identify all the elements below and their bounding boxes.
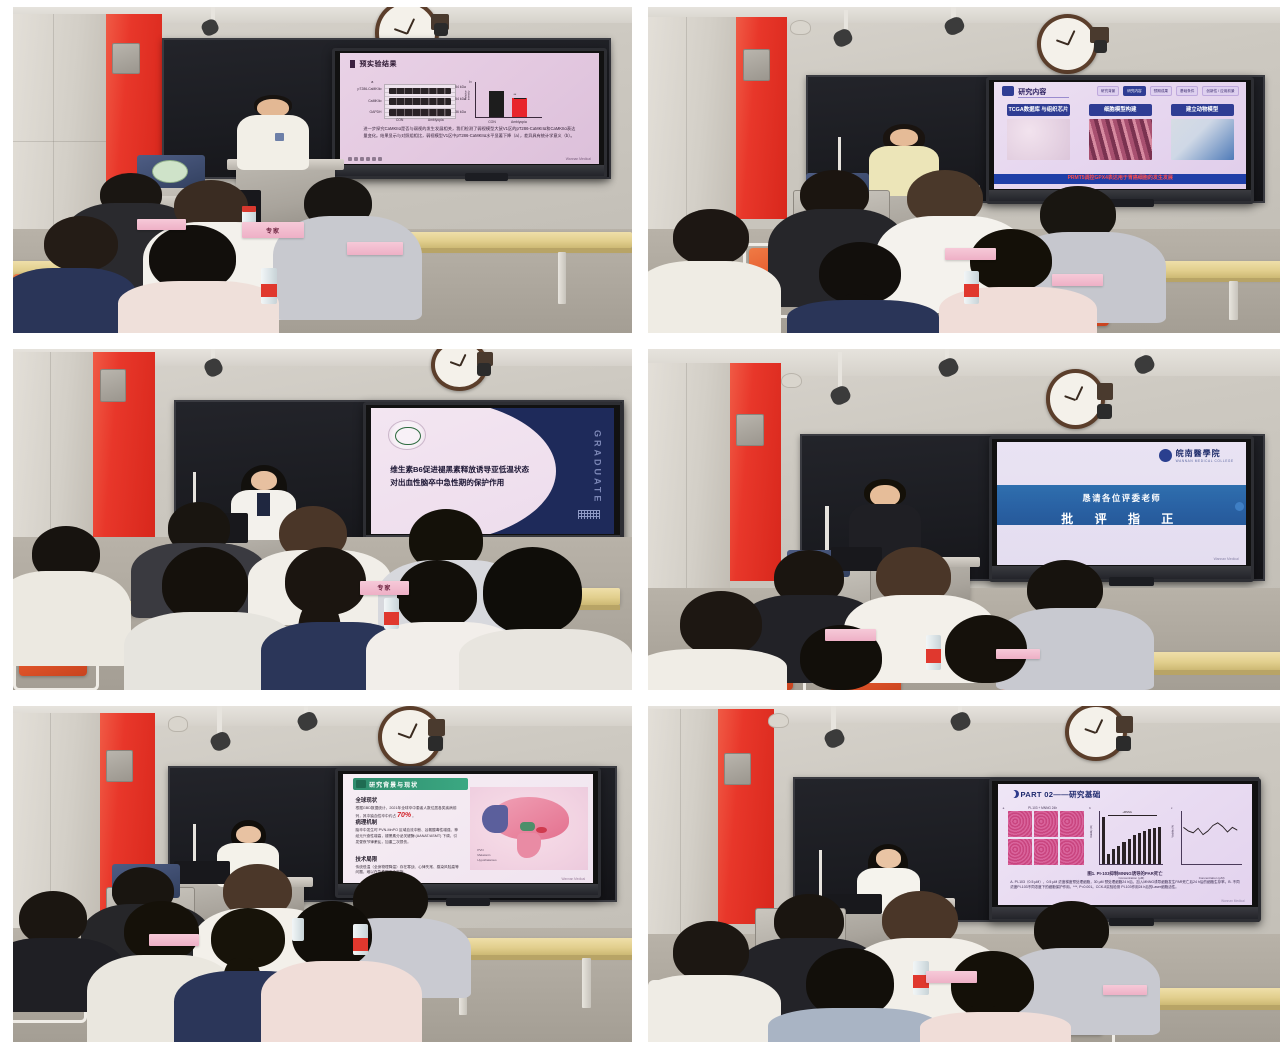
slide-title-line-1: 维生素B6促进褪黑素释放诱导亚低温状态 — [390, 464, 541, 477]
wall-control-box — [743, 49, 770, 80]
name-card — [996, 649, 1040, 659]
water-bottle — [292, 918, 304, 942]
western-blot-image — [384, 84, 456, 119]
slide-footer: Wannan Medical — [1214, 557, 1239, 561]
slide-title-line-2: 对出血性脑卒中急性期的保护作用 — [390, 477, 541, 490]
name-card — [825, 629, 876, 641]
photo-panel-5: 研究背景与现状 全球现状 根据GBD数据统计，2021年全球卒中患者人数位居各类… — [13, 706, 632, 1042]
content-card-2: 细胞模型构建 — [1089, 104, 1152, 170]
blot-group-2: Amblyopia — [418, 118, 454, 122]
photo-panel-6: PART 02——研究基础 PI-103 + MNNG 24h a b +MNN… — [648, 706, 1280, 1042]
histology-image-grid — [1008, 811, 1084, 866]
ceiling-camera — [434, 23, 448, 36]
wall-clock — [1065, 706, 1127, 761]
photo-panel-4: 皖南醫學院 WANNAN MEDICAL COLLEGE 恳请各位评委老师 批 … — [648, 349, 1280, 690]
audience-member — [673, 921, 749, 981]
slide-research-content: 研究内容 研究背景 研究内容 预期成果 基础条件 创新性 / 应用前景 TCGA… — [994, 82, 1246, 188]
display-toolbar[interactable] — [348, 157, 382, 161]
section-heading-1: 全球现状 — [356, 796, 461, 804]
slide-title: PART 02——研究基础 — [1020, 789, 1100, 800]
panel-b-title: +MNNG — [1122, 811, 1131, 814]
cell-culture-photo — [1089, 119, 1152, 160]
figure-label-a: a — [371, 79, 373, 84]
tab-innovation[interactable]: 创新性 / 应用前景 — [1202, 86, 1238, 96]
legend-item-3: Hypothalamus — [477, 858, 496, 863]
dome-camera — [768, 713, 789, 728]
line-chart-panel-c: Viability (%) Concentration (μM) — [1181, 811, 1242, 866]
audience-member — [397, 560, 477, 628]
interactive-display[interactable]: 预实验结果 a pT286-CaMKIIα CaMKIIα GAPDH 54 k… — [332, 48, 607, 180]
slide-footer: Wannan Medical — [562, 877, 586, 881]
decorative-dot-pattern — [578, 510, 600, 519]
school-name-cn: 皖南醫學院 — [1176, 448, 1234, 459]
x-tick-amblyopia: Amblyopia — [505, 120, 532, 124]
wall-clock — [1037, 14, 1099, 74]
slide-title: 研究内容 — [1018, 87, 1046, 97]
interactive-display[interactable]: 维生素B6促进褪黑素释放诱导亚低温状态 对出血性脑卒中急性期的保护作用 GRAD… — [363, 402, 623, 551]
bar-amblyopia — [512, 98, 527, 117]
photo-panel-2: 研究内容 研究背景 研究内容 预期成果 基础条件 创新性 / 应用前景 TCGA… — [648, 7, 1280, 333]
audience-member — [673, 209, 749, 264]
section-body-1-after: 。 — [412, 814, 416, 818]
slide-footer: Wannan Medical — [566, 157, 591, 161]
dome-camera — [790, 20, 811, 35]
content-card-3: 建立动物模型 — [1171, 104, 1234, 170]
school-logo-icon — [1002, 86, 1015, 96]
audience-member — [19, 891, 87, 945]
clock-mount — [428, 719, 445, 736]
slide-research-basis: PART 02——研究基础 PI-103 + MNNG 24h a b +MNN… — [998, 784, 1253, 905]
slide-side-text: GRADUATE — [592, 430, 602, 504]
slide-title-page: 维生素B6促进褪黑素释放诱导亚低温状态 对出血性脑卒中急性期的保护作用 GRAD… — [371, 408, 615, 534]
photo-panel-1: 预实验结果 a pT286-CaMKIIα CaMKIIα GAPDH 54 k… — [13, 7, 632, 333]
panel-c-ylabel: Viability (%) — [1172, 822, 1175, 838]
dome-camera — [781, 373, 802, 389]
slide-header: 研究背景与现状 — [353, 778, 468, 790]
photo-collage-grid: 预实验结果 a pT286-CaMKIIα CaMKIIα GAPDH 54 k… — [0, 0, 1280, 1024]
photo-panel-3: 维生素B6促进褪黑素释放诱导亚低温状态 对出血性脑卒中急性期的保护作用 GRAD… — [13, 349, 632, 690]
tab-outcomes[interactable]: 预期成果 — [1150, 86, 1172, 96]
significance-marker: ** — [514, 93, 517, 97]
audience-member — [680, 591, 762, 656]
name-card-text: 专家 — [266, 226, 280, 235]
wall-control-box — [112, 43, 140, 74]
decorative-dot — [1235, 502, 1244, 511]
slide-title: 研究背景与现状 — [369, 780, 418, 789]
blot-row-label-2: CaMKIIα — [343, 99, 382, 103]
blot-row-label-1: pT286-CaMKIIα — [343, 87, 382, 91]
dome-camera — [168, 716, 189, 731]
school-name-en: WANNAN MEDICAL COLLEGE — [1176, 459, 1234, 463]
ceiling-camera — [428, 736, 443, 751]
interactive-display[interactable]: 皖南醫學院 WANNAN MEDICAL COLLEGE 恳请各位评委老师 批 … — [989, 436, 1254, 582]
ceiling-camera — [1097, 404, 1112, 419]
closing-line-2: 批 评 指 正 — [997, 510, 1246, 527]
bar-con — [489, 91, 504, 117]
slide-footer: Wannan Medical — [1221, 899, 1245, 903]
card-caption-1: TCGA数据库 与组织芯片 — [1007, 104, 1070, 117]
tab-conditions[interactable]: 基础条件 — [1176, 86, 1198, 96]
blot-row-label-3: GAPDH — [343, 110, 382, 114]
figure-caption: 图1. PI-103抑制MNNG诱导的PAR死亡 — [998, 871, 1253, 877]
slide-nav-tabs[interactable]: 研究背景 研究内容 预期成果 基础条件 创新性 / 应用前景 — [1097, 86, 1239, 96]
slide-body-text: 进一步探究CaMKIIα是否与弱视的发生发展相关，我们检测了弱视模型大鼠V1区的… — [363, 126, 575, 139]
name-card-text: 专家 — [377, 583, 391, 592]
closing-line-1: 恳请各位评委老师 — [997, 492, 1246, 504]
slide-preliminary-results: 预实验结果 a pT286-CaMKIIα CaMKIIα GAPDH 54 k… — [340, 53, 598, 163]
slide-banner: PRMT5调控GPX4表达用于胃癌细胞的发生发展 — [994, 174, 1246, 185]
card-caption-3: 建立动物模型 — [1171, 104, 1234, 117]
panel-label-b: b — [1089, 806, 1091, 810]
slide-title: 维生素B6促进褪黑素释放诱导亚低温状态 对出血性脑卒中急性期的保护作用 — [390, 464, 541, 490]
wall-clock — [1046, 369, 1105, 428]
audience-member — [162, 547, 249, 622]
name-card — [926, 971, 977, 983]
slide-title-bar — [350, 60, 354, 68]
clock-mount — [1116, 716, 1134, 733]
panel-b-ylabel: Viability (%) — [1090, 821, 1093, 838]
clock-mount — [1097, 383, 1113, 400]
podium-monitor — [174, 861, 230, 885]
audience-member — [124, 901, 198, 961]
closing-band: 恳请各位评委老师 批 评 指 正 — [997, 485, 1246, 526]
bar-chart: ** Relative intensity CON Amblyopia — [475, 82, 542, 118]
panel-label-c: c — [1171, 806, 1173, 810]
name-card — [149, 934, 199, 946]
wall-control-box — [724, 753, 751, 785]
name-card — [347, 242, 403, 255]
section-mechanism: 病理机制 脑卒中发生时 PVN-MnPO 区域血流中断、谷氨酸毒性增强、神经元兴… — [356, 818, 461, 845]
ceiling-camera — [1116, 736, 1131, 751]
school-logo: 皖南醫學院 WANNAN MEDICAL COLLEGE — [1159, 448, 1234, 463]
panel-a-header: PI-103 + MNNG 24h — [1028, 806, 1057, 810]
slide-background-status: 研究背景与现状 全球现状 根据GBD数据统计，2021年全球卒中患者人数位居各类… — [343, 774, 593, 883]
ceiling-camera — [477, 363, 491, 377]
blot-group-1: CON — [384, 118, 415, 122]
diagram-legend: PVN Melatonin Hypothalamus — [477, 848, 496, 863]
section-heading-3: 技术局限 — [356, 855, 461, 863]
tab-content[interactable]: 研究内容 — [1123, 86, 1145, 96]
name-card — [1052, 274, 1103, 285]
sagittal-brain-illustration: PVN Melatonin Hypothalamus — [470, 787, 587, 870]
wall-control-box — [736, 414, 763, 447]
content-card-1: TCGA数据库 与组织芯片 — [1007, 104, 1070, 170]
name-card — [945, 248, 996, 259]
crescent-moon-icon — [1008, 790, 1016, 798]
audience-member — [970, 229, 1052, 291]
panel-label-a: a — [1003, 806, 1005, 810]
ceiling-camera — [1094, 40, 1108, 53]
laboratory-mouse-photo — [1171, 119, 1234, 160]
section-limitation: 技术局限 传统低温（全身物理降温）存在寒战、心律失常、感染风险高等问题，难以在急… — [356, 855, 461, 876]
wall-control-box — [100, 369, 127, 402]
name-card — [1103, 985, 1147, 995]
section-body-2: 脑卒中发生时 PVN-MnPO 区域血流中断、谷氨酸毒性增强、神经元兴奋性增高，… — [356, 828, 461, 845]
ceiling-microphone — [838, 352, 842, 390]
slide-title: 预实验结果 — [360, 59, 398, 69]
university-seal-icon — [388, 420, 427, 450]
slide-thank-you: 皖南醫學院 WANNAN MEDICAL COLLEGE 恳请各位评委老师 批 … — [997, 442, 1246, 565]
presenter — [236, 95, 310, 170]
x-tick-con: CON — [483, 120, 502, 124]
y-axis-label: Relative intensity — [464, 91, 470, 106]
bar-chart-panel-b: +MNNG Viability (%) — [1099, 811, 1163, 866]
interactive-display[interactable]: PART 02——研究基础 PI-103 + MNNG 24h a b +MNN… — [989, 778, 1260, 922]
section-heading-2: 病理机制 — [356, 818, 461, 826]
header-number-badge — [356, 780, 365, 788]
slide-body-text: A. PI-103（0.5 μM）、0.5 μM 浓度梯度预处理细胞，30 μM… — [1010, 880, 1239, 891]
name-card: 专家 — [360, 581, 410, 595]
tissue-microarray-photo — [1007, 119, 1070, 160]
card-caption-2: 细胞模型构建 — [1089, 104, 1152, 117]
name-card: 专家 — [242, 222, 304, 238]
wall-control-box — [106, 750, 133, 782]
slide-banner-text: PRMT5调控GPX4表达用于胃癌细胞的发生发展 — [994, 174, 1246, 184]
school-seal-icon — [1159, 449, 1172, 462]
interactive-display[interactable]: 研究内容 研究背景 研究内容 预期成果 基础条件 创新性 / 应用前景 TCGA… — [986, 77, 1254, 204]
audience-member — [483, 547, 582, 636]
tab-background[interactable]: 研究背景 — [1097, 86, 1119, 96]
name-card — [137, 219, 187, 230]
figure-label-b: b — [469, 79, 471, 84]
